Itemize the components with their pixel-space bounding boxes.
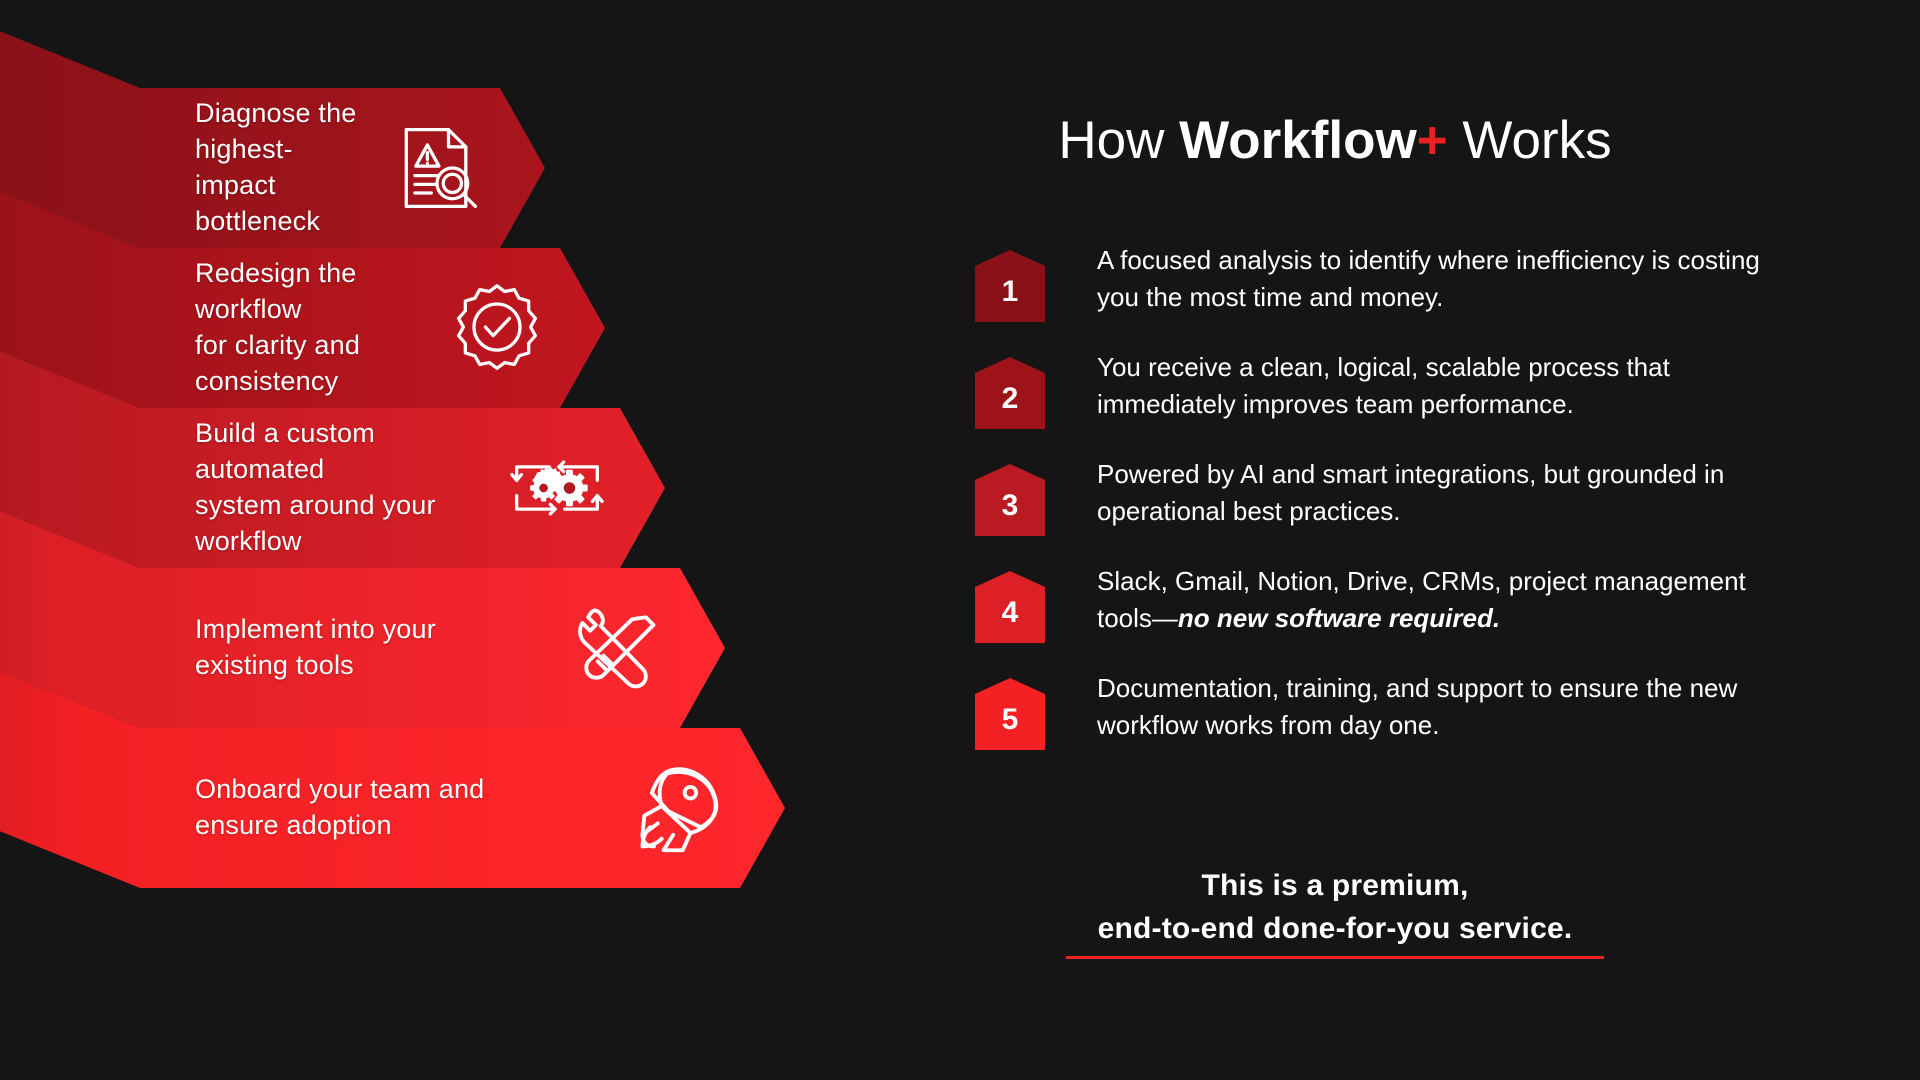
step-detail-text-part: Powered by AI and smart integrations, bu… — [1097, 459, 1724, 526]
step-detail-text: A focused analysis to identify where ine… — [1097, 240, 1805, 316]
rocket-icon — [629, 760, 725, 856]
step-number-badge: 1 — [975, 250, 1045, 322]
step-detail-row: 1A focused analysis to identify where in… — [975, 240, 1805, 322]
brand-plus-symbol: + — [1417, 111, 1448, 170]
headline-prefix: How — [1058, 111, 1179, 170]
step-detail-row: 4Slack, Gmail, Notion, Drive, CRMs, proj… — [975, 561, 1805, 643]
closing-line-2: end-to-end done-for-you service. — [975, 908, 1695, 951]
step-detail-text-part: You receive a clean, logical, scalable p… — [1097, 352, 1670, 419]
explanation-panel: How Workflow+ Works 1A focused analysis … — [975, 0, 1920, 1080]
step-detail-text: You receive a clean, logical, scalable p… — [1097, 347, 1805, 423]
closing-line-1: This is a premium, — [975, 865, 1695, 908]
step-number-badge: 2 — [975, 357, 1045, 429]
closing-statement: This is a premium, end-to-end done-for-y… — [975, 865, 1695, 959]
step-detail-text: Powered by AI and smart integrations, bu… — [1097, 454, 1805, 530]
step-number-label: 2 — [975, 357, 1045, 429]
step-number-label: 5 — [975, 678, 1045, 750]
step-detail-text-part: A focused analysis to identify where ine… — [1097, 245, 1760, 312]
step-detail-text: Documentation, training, and support to … — [1097, 668, 1805, 744]
step-detail-text-part: no new software required. — [1178, 603, 1500, 633]
step-number-badge: 4 — [975, 571, 1045, 643]
step-number-label: 3 — [975, 464, 1045, 536]
process-steps-panel: Diagnose the highest- impact bottleneck — [0, 0, 1000, 1080]
page-title: How Workflow+ Works — [975, 112, 1695, 170]
step-number-badge: 5 — [975, 678, 1045, 750]
step-detail-row: 5Documentation, training, and support to… — [975, 668, 1805, 750]
step-number-badge: 3 — [975, 464, 1045, 536]
numbered-steps-list: 1A focused analysis to identify where in… — [975, 240, 1805, 775]
step-detail-text: Slack, Gmail, Notion, Drive, CRMs, proje… — [1097, 561, 1805, 637]
step-number-label: 1 — [975, 250, 1045, 322]
closing-underline — [1066, 956, 1604, 959]
step-bar-content: Onboard your team and ensure adoption — [195, 728, 725, 888]
brand-name: Workflow — [1179, 111, 1417, 170]
step-detail-row: 3Powered by AI and smart integrations, b… — [975, 454, 1805, 536]
step-detail-row: 2You receive a clean, logical, scalable … — [975, 347, 1805, 429]
step-number-label: 4 — [975, 571, 1045, 643]
step-detail-text-part: Documentation, training, and support to … — [1097, 673, 1737, 740]
process-step-bar: Onboard your team and ensure adoption — [0, 578, 785, 888]
headline-suffix: Works — [1448, 111, 1612, 170]
step-bar-label: Onboard your team and ensure adoption — [195, 772, 484, 844]
